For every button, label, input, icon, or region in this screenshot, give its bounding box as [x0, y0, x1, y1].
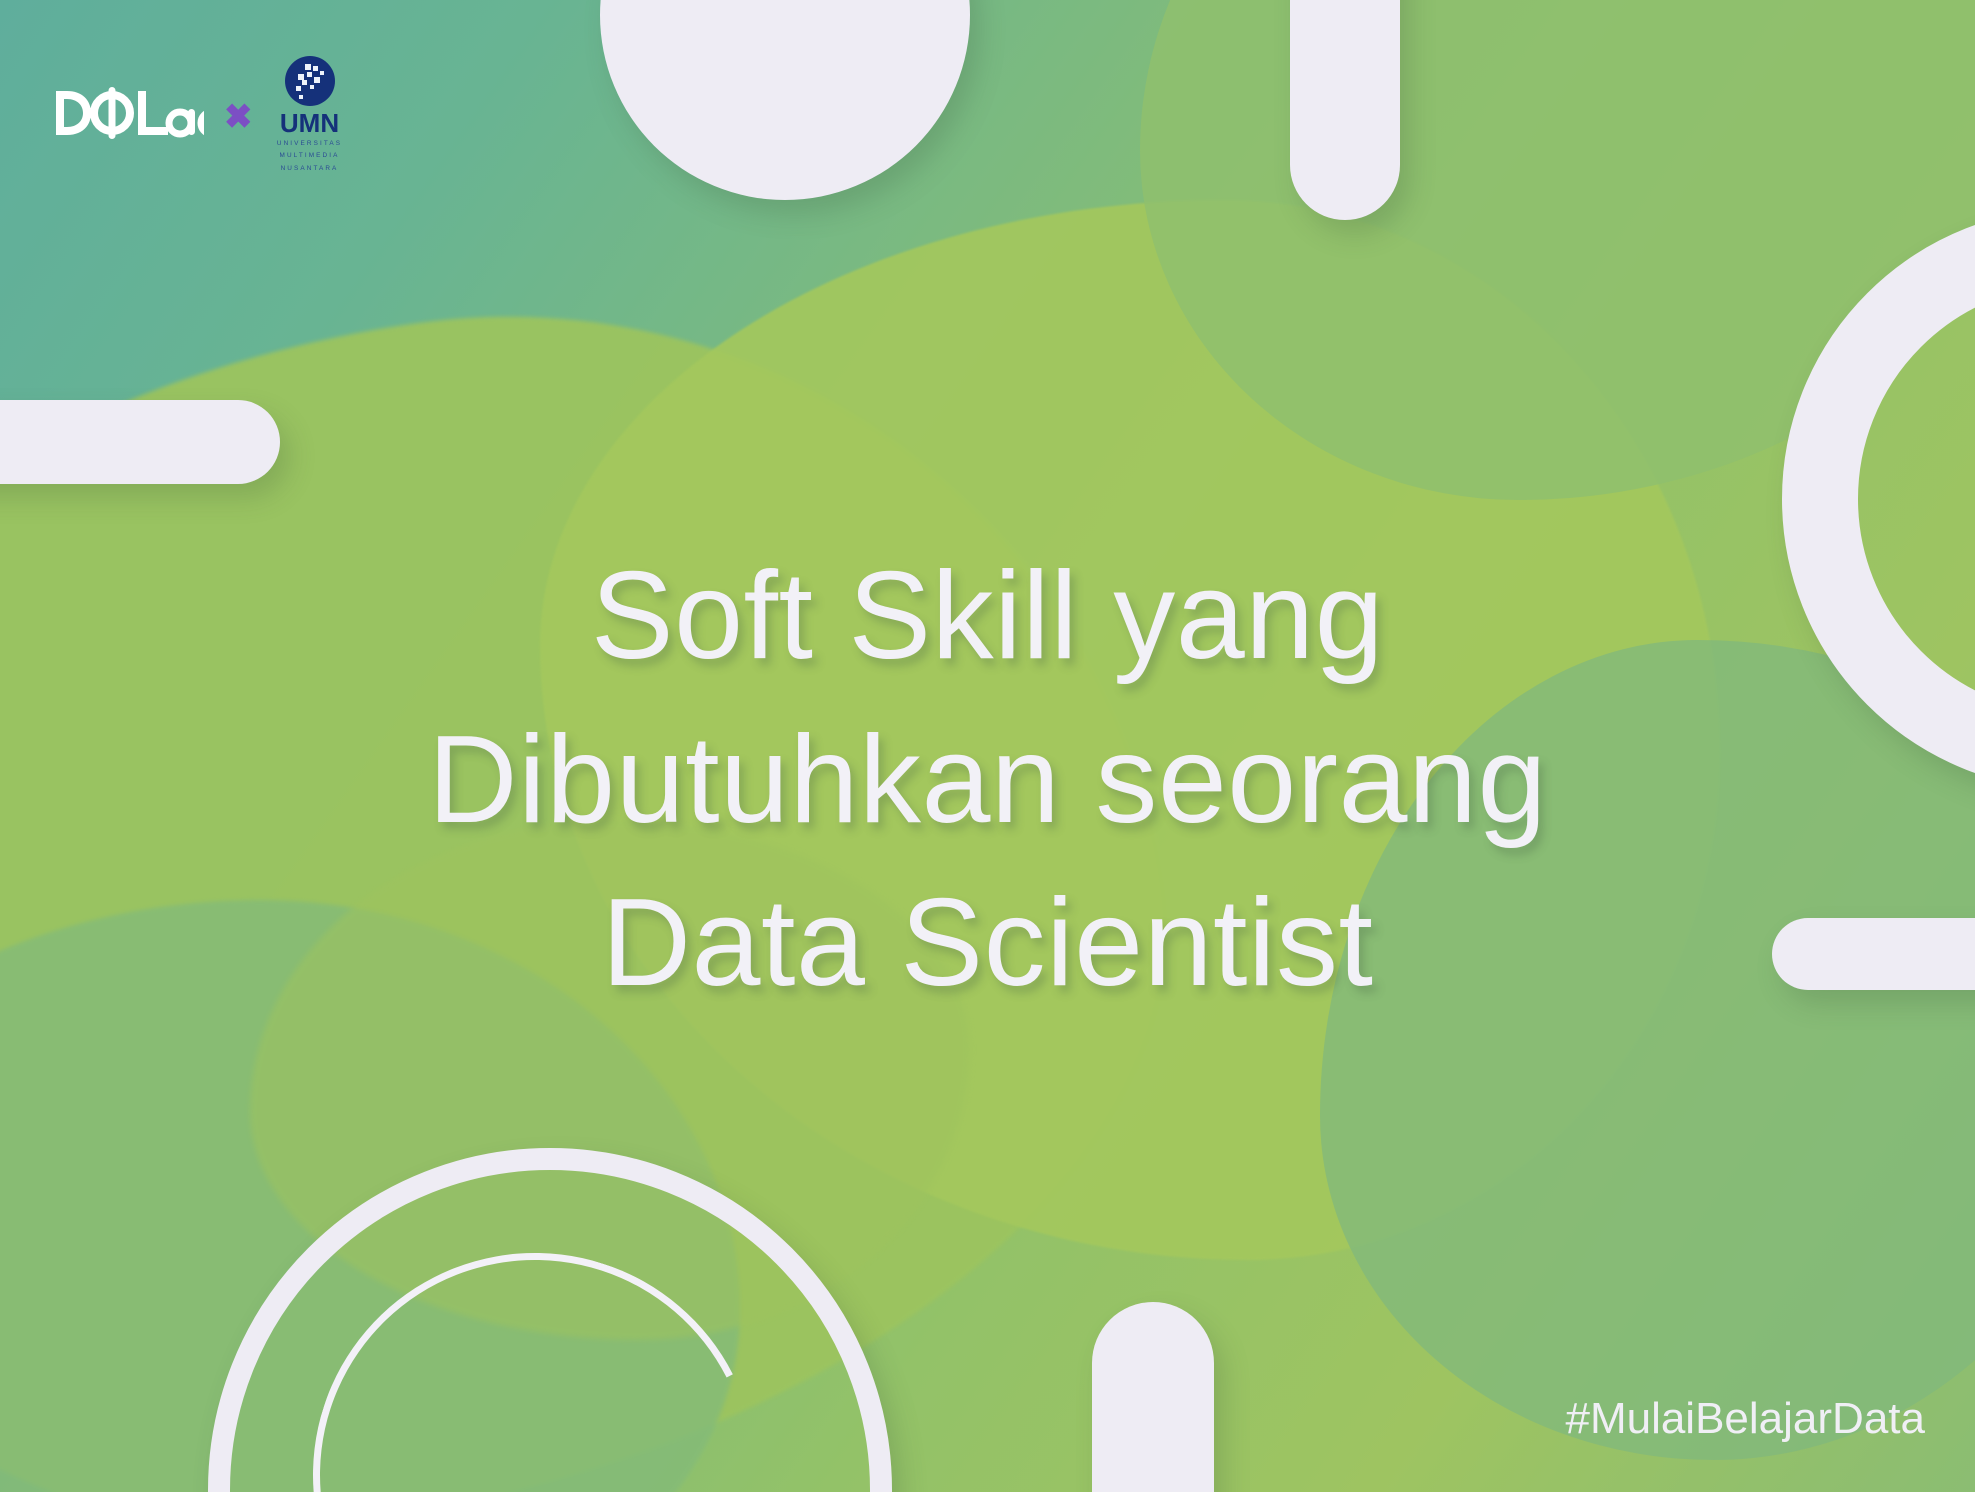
decor-pill-left-horizontal — [0, 400, 280, 484]
umn-subtitle-line-3: NUSANTARA — [281, 164, 339, 173]
decor-ring-bottom-left-outer — [208, 1148, 892, 1492]
umn-globe-icon — [283, 54, 337, 108]
decor-pill-top-vertical — [1290, 0, 1400, 220]
poster-canvas: ✖ — [0, 0, 1975, 1492]
title-line-2: Dibutuhkan seorang — [0, 699, 1975, 863]
umn-subtitle-line-1: UNIVERSITAS — [277, 139, 342, 148]
background-blob-3 — [1140, 0, 1975, 500]
page-title: Soft Skill yang Dibutuhkan seorang Data … — [0, 535, 1975, 1026]
decor-pill-bottom-vertical — [1092, 1302, 1214, 1492]
umn-logo: UMN UNIVERSITAS MULTIMEDIA NUSANTARA — [273, 54, 347, 173]
collaboration-x-icon: ✖ — [224, 100, 253, 134]
logo-header: ✖ — [52, 54, 347, 173]
title-line-3: Data Scientist — [0, 862, 1975, 1026]
decor-circle-top — [600, 0, 970, 200]
title-line-1: Soft Skill yang — [0, 535, 1975, 699]
dqlab-wordmark-icon — [52, 85, 204, 141]
campaign-hashtag: #MulaiBelajarData — [1565, 1394, 1925, 1444]
decor-arc-bottom-left-inner — [255, 1195, 814, 1492]
dqlab-logo — [52, 85, 204, 141]
umn-subtitle-line-2: MULTIMEDIA — [280, 151, 340, 160]
umn-acronym: UMN — [280, 110, 339, 136]
